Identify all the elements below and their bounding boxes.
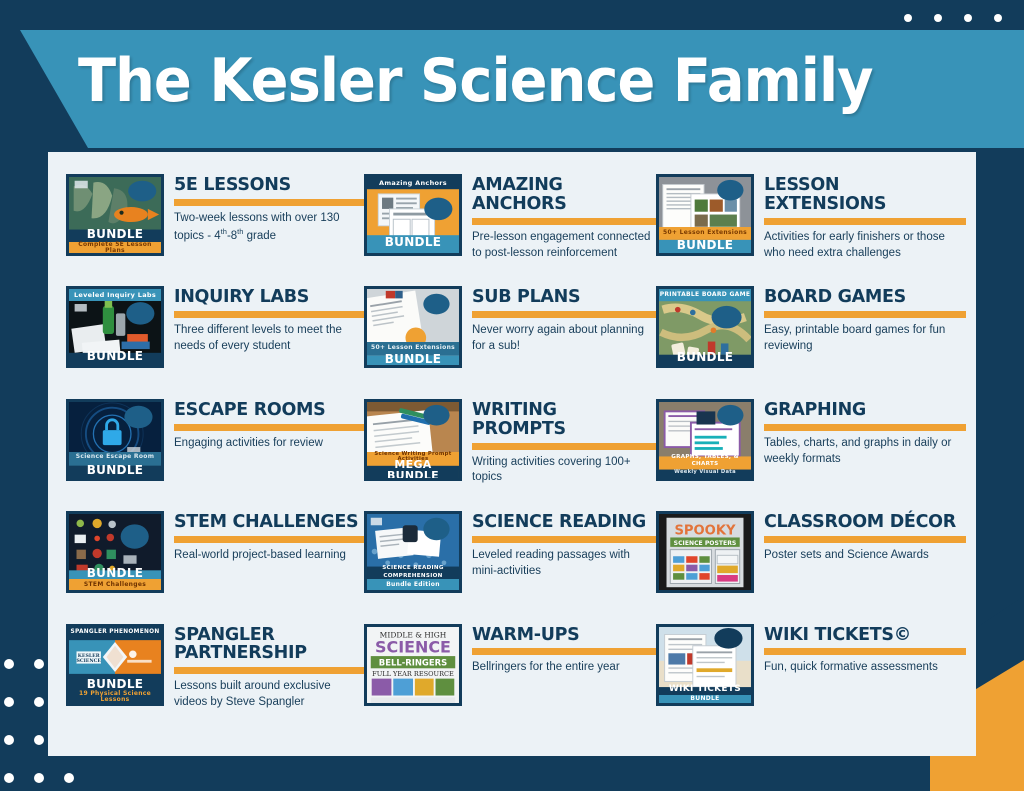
product-title: STEM CHALLENGES <box>174 513 364 532</box>
thumbnail-badge-top: Amazing Anchors <box>367 177 459 189</box>
thumbnail-badge-sub: 19 Physical Science Lessons <box>69 692 161 703</box>
product-text: AMAZING ANCHORS Pre-lesson engagement co… <box>472 174 656 262</box>
product-description: Real-world project-based learning <box>174 548 364 564</box>
decor-dot <box>4 697 14 707</box>
accent-rule <box>472 536 656 543</box>
product-description: Activities for early finishers or those … <box>764 230 966 262</box>
desc-part: -8 <box>227 230 237 242</box>
product-description: Fun, quick formative assessments <box>764 660 966 676</box>
product-item-escape-rooms[interactable]: Science Escape Room BUNDLE ESCAPE ROOMS … <box>66 399 364 511</box>
product-description: Three different levels to meet the needs… <box>174 323 364 355</box>
product-text: BOARD GAMES Easy, printable board games … <box>764 286 966 355</box>
product-text: SCIENCE READING Leveled reading passages… <box>472 511 656 580</box>
thumbnail-badge-main: BUNDLE <box>367 352 459 366</box>
decor-dot <box>934 14 942 22</box>
accent-rule <box>472 311 656 318</box>
product-title: WARM-UPS <box>472 626 656 645</box>
desc-part: grade <box>243 230 276 242</box>
thumbnail-badge-sub: Bundle Edition <box>367 579 459 590</box>
product-thumbnail[interactable]: 50+ Lesson Extensions BUNDLE <box>364 286 462 368</box>
decor-dot <box>994 14 1002 22</box>
svg-text:SCIENCE POSTERS: SCIENCE POSTERS <box>674 540 737 547</box>
thumbnail-badge-main: SCIENCE READING COMPREHENSION <box>367 564 459 580</box>
product-title: SCIENCE READING <box>472 513 656 532</box>
thumbnail-badge-main: MEGA BUNDLE <box>367 463 459 477</box>
product-text: 5E LESSONS Two-week lessons with over 13… <box>174 174 364 244</box>
thumbnail-art-warmups: MIDDLE & HIGH SCIENCE BELL-RINGERS FULL … <box>367 627 459 704</box>
accent-rule <box>174 424 364 431</box>
accent-rule <box>174 667 364 674</box>
decor-dot <box>4 659 14 669</box>
product-text: STEM CHALLENGES Real-world project-based… <box>174 511 364 564</box>
content-card: BUNDLE Complete 5E Lesson Plans 5E LESSO… <box>48 152 976 756</box>
product-title: WRITING PROMPTS <box>472 401 656 439</box>
product-title: SPANGLER PARTNERSHIP <box>174 626 364 664</box>
decor-dot <box>904 14 912 22</box>
thumbnail-badge-top: PRINTABLE BOARD GAME <box>659 289 751 301</box>
product-text: WARM-UPS Bellringers for the entire year <box>472 624 656 677</box>
product-text: WRITING PROMPTS Writing activities cover… <box>472 399 656 487</box>
product-item-inquiry-labs[interactable]: Leveled Inquiry Labs BUNDLE INQUIRY LABS… <box>66 286 364 398</box>
product-item-5e-lessons[interactable]: BUNDLE Complete 5E Lesson Plans 5E LESSO… <box>66 174 364 286</box>
product-item-lesson-extensions[interactable]: 50+ Lesson Extensions BUNDLE LESSON EXTE… <box>656 174 966 286</box>
accent-rule <box>764 311 966 318</box>
svg-text:SCIENCE: SCIENCE <box>76 658 101 664</box>
thumbnail-badge-top: SPANGLER PHENOMENON <box>69 627 161 639</box>
decor-dot <box>4 735 14 745</box>
product-title: CLASSROOM DÉCOR <box>764 513 966 532</box>
thumbnail-badge-sub: Science Escape Room <box>69 452 161 463</box>
product-text: LESSON EXTENSIONS Activities for early f… <box>764 174 966 262</box>
product-grid: BUNDLE Complete 5E Lesson Plans 5E LESSO… <box>66 174 966 736</box>
product-description: Easy, printable board games for fun revi… <box>764 323 966 355</box>
product-item-graphing[interactable]: GRAPHS, TABLES, & CHARTS Weekly Visual D… <box>656 399 966 511</box>
product-title: GRAPHING <box>764 401 966 420</box>
product-description: Poster sets and Science Awards <box>764 548 966 564</box>
accent-rule <box>472 218 656 225</box>
product-title: AMAZING ANCHORS <box>472 176 656 214</box>
svg-text:SPOOKY: SPOOKY <box>674 524 736 539</box>
product-description: Bellringers for the entire year <box>472 660 656 676</box>
product-thumbnail[interactable]: Science Writing Prompt Activities MEGA B… <box>364 399 462 481</box>
thumbnail-badge-main: BUNDLE <box>69 349 161 363</box>
accent-rule <box>174 311 364 318</box>
svg-text:SCIENCE: SCIENCE <box>375 637 451 656</box>
decor-dot <box>34 735 44 745</box>
product-text: SUB PLANS Never worry again about planni… <box>472 286 656 355</box>
thumbnail-badge-sub: 50+ Lesson Extensions <box>659 227 751 238</box>
product-item-sub-plans[interactable]: 50+ Lesson Extensions BUNDLE SUB PLANS N… <box>364 286 656 398</box>
decor-dot <box>34 659 44 669</box>
thumbnail-badge-main: BUNDLE <box>69 677 161 691</box>
product-item-classroom-decor[interactable]: SPOOKY SCIENCE POSTERS CLA <box>656 511 966 623</box>
product-title: WIKI TICKETS© <box>764 626 966 645</box>
product-item-board-games[interactable]: PRINTABLE BOARD GAME BUNDLE BOARD GAMES … <box>656 286 966 398</box>
product-text: INQUIRY LABS Three different levels to m… <box>174 286 364 355</box>
thumbnail-badge-main: BUNDLE <box>69 463 161 477</box>
product-description: Lessons built around exclusive videos by… <box>174 679 364 711</box>
product-title: LESSON EXTENSIONS <box>764 176 966 214</box>
thumbnail-art-decor: SPOOKY SCIENCE POSTERS <box>659 514 751 591</box>
product-description: Two-week lessons with over 130 topics - … <box>174 211 364 245</box>
decor-dot <box>64 773 74 783</box>
product-description: Leveled reading passages with mini-activ… <box>472 548 656 580</box>
accent-rule <box>764 536 966 543</box>
product-description: Never worry again about planning for a s… <box>472 323 656 355</box>
product-thumbnail[interactable]: KESLER SCIENCE SPANGLER PHENOMENON BUNDL… <box>66 624 164 706</box>
page-title: The Kesler Science Family <box>78 46 873 116</box>
decor-dot <box>4 773 14 783</box>
thumbnail-badge-main: BUNDLE <box>659 238 751 252</box>
accent-rule <box>472 443 656 450</box>
thumbnail-badge-main: WIKI TICKETS <box>659 685 751 695</box>
accent-rule <box>764 218 966 225</box>
product-thumbnail[interactable]: MIDDLE & HIGH SCIENCE BELL-RINGERS FULL … <box>364 624 462 706</box>
thumbnail-badge-main: BUNDLE <box>69 566 161 580</box>
decor-dot <box>964 14 972 22</box>
product-text: ESCAPE ROOMS Engaging activities for rev… <box>174 399 364 452</box>
product-title: BOARD GAMES <box>764 288 966 307</box>
thumbnail-badge-top: Leveled Inquiry Labs <box>69 289 161 301</box>
product-item-writing-prompts[interactable]: Science Writing Prompt Activities MEGA B… <box>364 399 656 511</box>
product-text: CLASSROOM DÉCOR Poster sets and Science … <box>764 511 966 564</box>
svg-text:FULL YEAR RESOURCE: FULL YEAR RESOURCE <box>372 669 454 677</box>
svg-text:BELL-RINGERS: BELL-RINGERS <box>379 657 447 667</box>
product-description: Writing activities covering 100+ topics <box>472 455 656 487</box>
product-item-amazing-anchors[interactable]: Amazing Anchors BUNDLE AMAZING ANCHORS P… <box>364 174 656 286</box>
decor-dot <box>34 697 44 707</box>
product-thumbnail[interactable]: GRAPHS, TABLES, & CHARTS Weekly Visual D… <box>656 399 754 481</box>
product-item-wiki-tickets[interactable]: WIKI TICKETS BUNDLE WIKI TICKETS© Fun, q… <box>656 624 966 736</box>
product-thumbnail[interactable]: SCIENCE READING COMPREHENSION Bundle Edi… <box>364 511 462 593</box>
product-description: Pre-lesson engagement connected to post-… <box>472 230 656 262</box>
thumbnail-badge-sub: Complete 5E Lesson Plans <box>69 242 161 253</box>
product-thumbnail[interactable]: 50+ Lesson Extensions BUNDLE <box>656 174 754 256</box>
thumbnail-badge-main: GRAPHS, TABLES, & CHARTS <box>659 454 751 468</box>
decor-dot <box>34 773 44 783</box>
product-thumbnail[interactable]: Amazing Anchors BUNDLE <box>364 174 462 256</box>
product-thumbnail[interactable]: BUNDLE STEM Challenges <box>66 511 164 593</box>
product-item-stem-challenges[interactable]: BUNDLE STEM Challenges STEM CHALLENGES R… <box>66 511 364 623</box>
product-title: ESCAPE ROOMS <box>174 401 364 420</box>
product-thumbnail[interactable]: BUNDLE Complete 5E Lesson Plans <box>66 174 164 256</box>
product-title: INQUIRY LABS <box>174 288 364 307</box>
product-item-spangler-partnership[interactable]: KESLER SCIENCE SPANGLER PHENOMENON BUNDL… <box>66 624 364 736</box>
thumbnail-badge-main: BUNDLE <box>367 235 459 249</box>
accent-rule <box>764 648 966 655</box>
product-thumbnail[interactable]: PRINTABLE BOARD GAME BUNDLE <box>656 286 754 368</box>
product-thumbnail[interactable]: SPOOKY SCIENCE POSTERS <box>656 511 754 593</box>
thumbnail-badge-sub: BUNDLE <box>659 695 751 703</box>
accent-rule <box>174 199 364 206</box>
product-text: SPANGLER PARTNERSHIP Lessons built aroun… <box>174 624 364 712</box>
accent-rule <box>764 424 966 431</box>
accent-rule <box>472 648 656 655</box>
product-description: Tables, charts, and graphs in daily or w… <box>764 436 966 468</box>
product-thumbnail[interactable]: Leveled Inquiry Labs BUNDLE <box>66 286 164 368</box>
product-description: Engaging activities for review <box>174 436 364 452</box>
thumbnail-badge-main: BUNDLE <box>69 227 161 241</box>
thumbnail-badge-main: BUNDLE <box>659 350 751 364</box>
product-item-warm-ups[interactable]: MIDDLE & HIGH SCIENCE BELL-RINGERS FULL … <box>364 624 656 736</box>
svg-text:KESLER: KESLER <box>78 653 100 659</box>
accent-rule <box>174 536 364 543</box>
thumbnail-badge-sub: Weekly Visual Data <box>659 467 751 478</box>
product-text: WIKI TICKETS© Fun, quick formative asses… <box>764 624 966 677</box>
product-item-science-reading[interactable]: SCIENCE READING COMPREHENSION Bundle Edi… <box>364 511 656 623</box>
product-thumbnail[interactable]: WIKI TICKETS BUNDLE <box>656 624 754 706</box>
product-text: GRAPHING Tables, charts, and graphs in d… <box>764 399 966 468</box>
product-title: SUB PLANS <box>472 288 656 307</box>
product-thumbnail[interactable]: Science Escape Room BUNDLE <box>66 399 164 481</box>
product-title: 5E LESSONS <box>174 176 364 195</box>
thumbnail-badge-sub: STEM Challenges <box>69 579 161 590</box>
